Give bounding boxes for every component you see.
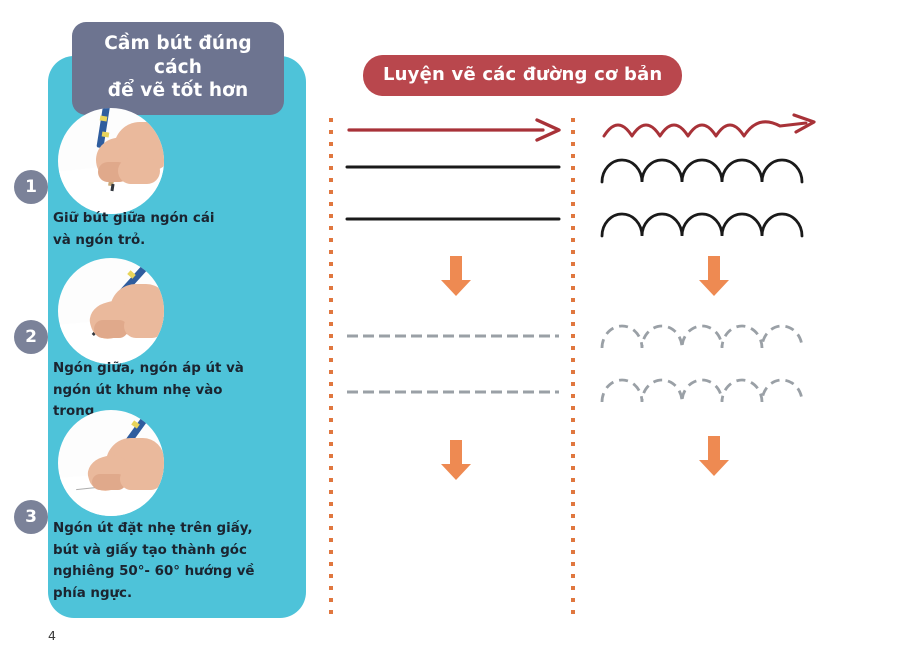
dashed-straight-line (345, 380, 567, 404)
worksheet-page: Cầm bút đúng cách để vẽ tốt hơn 1 Giữ b (0, 0, 900, 671)
dashed-arch-line (598, 316, 830, 352)
black-straight-line (345, 152, 567, 182)
step-3-text-line-3: nghiêng 50°- 60° hướng về (53, 561, 258, 583)
straight-lines-column (345, 110, 567, 482)
black-straight-line (345, 204, 567, 234)
arch-orange-arrow-2-row (598, 434, 830, 478)
step-3-text-line-4: phía ngực. (53, 583, 258, 605)
step-3-text: Ngón út đặt nhẹ trên giấy, bút và giấy t… (53, 518, 258, 605)
down-arrow-icon (697, 434, 731, 478)
dashed-arch-line (598, 370, 830, 406)
step-2-text-line-1: Ngón giữa, ngón áp út và (53, 358, 258, 380)
arch-demo-row (598, 110, 830, 148)
step-2-badge: 2 (14, 320, 48, 354)
arch-guide-row-2 (598, 370, 830, 410)
panel-title-banner: Cầm bút đúng cách để vẽ tốt hơn (72, 22, 284, 115)
step-1-badge: 1 (14, 170, 48, 204)
straight-guide-row-1 (345, 324, 567, 352)
black-arch-line (598, 150, 830, 186)
straight-model-row-2 (345, 204, 567, 238)
step-1-text: Giữ bút giữa ngón cái và ngón trỏ. (53, 208, 258, 251)
arch-model-row-1 (598, 150, 830, 190)
straight-model-row-1 (345, 152, 567, 186)
step-1-text-line-2: và ngón trỏ. (53, 230, 258, 252)
straight-orange-arrow-2-row (345, 438, 567, 482)
step-3-badge: 3 (14, 500, 48, 534)
black-arch-line (598, 204, 830, 240)
hand-holding-pencil-photo-1 (58, 108, 164, 214)
step-1-text-line-1: Giữ bút giữa ngón cái (53, 208, 258, 230)
red-straight-arrow-line (345, 110, 567, 144)
hand-holding-pencil-photo-2 (58, 258, 164, 364)
step-3-text-line-2: bút và giấy tạo thành góc (53, 540, 258, 562)
panel-title-line-1: Cầm bút đúng cách (86, 32, 270, 79)
dotted-divider-left (329, 118, 333, 618)
down-arrow-icon (697, 254, 731, 298)
red-arch-arrow-line (598, 110, 830, 144)
panel-title-line-2: để vẽ tốt hơn (86, 79, 270, 103)
down-arrow-icon (439, 438, 473, 482)
page-number: 4 (48, 628, 56, 643)
arch-guide-row-1 (598, 316, 830, 356)
straight-guide-row-2 (345, 380, 567, 408)
dashed-straight-line (345, 324, 567, 348)
straight-orange-arrow-1-row (345, 254, 567, 298)
down-arrow-icon (439, 254, 473, 298)
arch-orange-arrow-1-row (598, 254, 830, 298)
straight-demo-row (345, 110, 567, 148)
practice-title-banner: Luyện vẽ các đường cơ bản (363, 55, 682, 96)
arch-lines-column (598, 110, 830, 478)
hand-holding-pencil-photo-3 (58, 410, 164, 516)
arch-model-row-2 (598, 204, 830, 244)
step-3-text-line-1: Ngón út đặt nhẹ trên giấy, (53, 518, 258, 540)
dotted-divider-right (571, 118, 575, 618)
